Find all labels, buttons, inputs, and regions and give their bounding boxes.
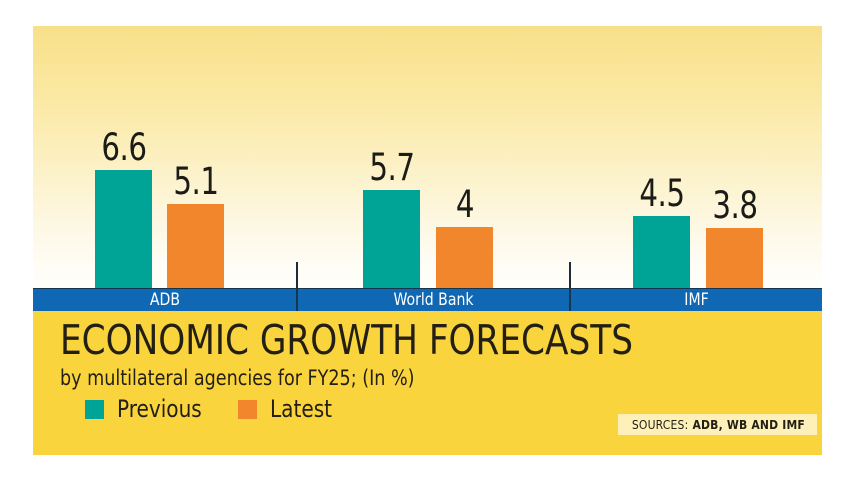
sources-label: SOURCES:: [632, 418, 689, 432]
bar-label-adb-previous: 6.6: [84, 129, 163, 166]
band-tick-1: [296, 289, 298, 312]
bar-adb-previous[interactable]: [95, 170, 152, 288]
legend-label-previous: Previous: [117, 397, 202, 421]
bar-world-bank-latest[interactable]: [436, 227, 493, 288]
bar-label-world-bank-previous: 5.7: [352, 149, 431, 186]
group-separator-2: [569, 262, 571, 288]
chart-subtitle: by multilateral agencies for FY25; (In %…: [60, 367, 415, 390]
bar-imf-previous[interactable]: [633, 216, 690, 288]
sources-note: SOURCES: ADB, WB AND IMF: [618, 414, 817, 435]
chart-legend: Previous Latest: [85, 397, 337, 421]
category-label-imf: IMF: [581, 289, 812, 312]
chart-plot-area: 6.6 5.1 5.7 4 4.5 3.8: [33, 26, 822, 288]
legend-swatch-previous-icon: [85, 400, 104, 419]
sources-value: ADB, WB AND IMF: [692, 418, 805, 432]
bar-group-adb: 6.6 5.1: [95, 26, 329, 288]
legend-item-latest[interactable]: Latest: [238, 397, 337, 421]
bar-label-imf-previous: 4.5: [622, 175, 701, 212]
bar-imf-latest[interactable]: [706, 228, 763, 288]
group-separator-1: [296, 262, 298, 288]
category-axis-band: ADB World Bank IMF: [33, 288, 822, 311]
category-label-adb: ADB: [44, 289, 287, 312]
legend-swatch-latest-icon: [238, 400, 257, 419]
legend-item-previous[interactable]: Previous: [85, 397, 208, 421]
band-tick-2: [569, 289, 571, 312]
bar-group-imf: 4.5 3.8: [633, 26, 822, 288]
bar-label-world-bank-latest: 4: [425, 186, 504, 223]
bar-group-world-bank: 5.7 4: [363, 26, 603, 288]
chart-footer: ECONOMIC GROWTH FORECASTS by multilatera…: [33, 311, 822, 455]
bar-label-adb-latest: 5.1: [156, 163, 235, 200]
bar-label-imf-latest: 3.8: [695, 187, 774, 224]
bar-adb-latest[interactable]: [167, 204, 224, 288]
legend-label-latest: Latest: [270, 397, 332, 421]
infographic-card: 6.6 5.1 5.7 4 4.5 3.8 ADB World Bank IMF: [33, 26, 822, 455]
category-label-world-bank: World Bank: [309, 289, 558, 312]
bar-world-bank-previous[interactable]: [363, 190, 420, 288]
chart-title: ECONOMIC GROWTH FORECASTS: [60, 319, 633, 362]
